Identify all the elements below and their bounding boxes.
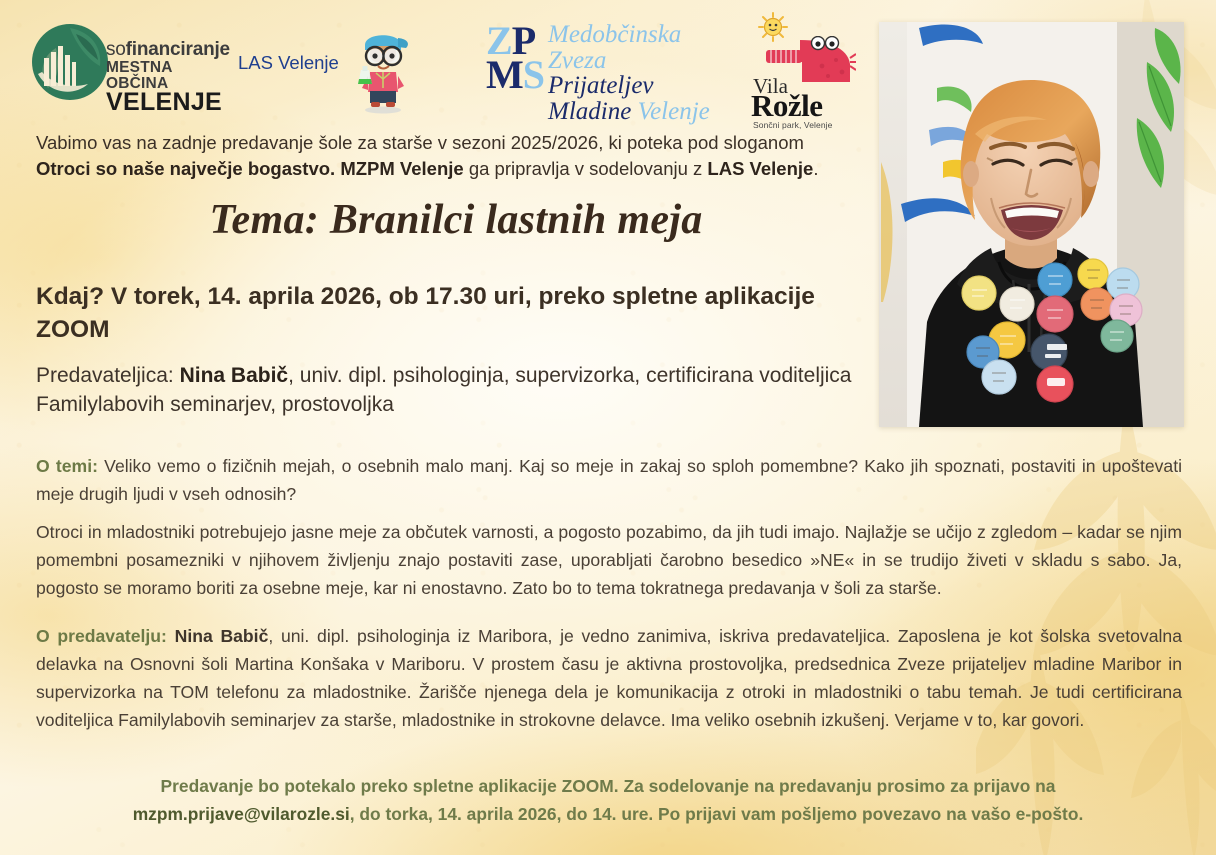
intro-mid: ga pripravlja v sodelovanju z xyxy=(464,158,708,179)
las-velenje-label: LAS Velenje xyxy=(238,52,339,73)
about-label: O predavatelju: xyxy=(36,626,167,646)
zpms-s: S xyxy=(523,52,544,97)
topic-text: Veliko vemo o fizičnih mejah, o osebnih … xyxy=(36,456,1182,504)
zpms-word-velenje: Velenje xyxy=(638,98,710,125)
event-flyer-poster: sofinanciranje MESTNA OBČINA VELENJE LAS… xyxy=(0,0,1216,855)
logo-las-velenje: LAS Velenje xyxy=(238,52,339,74)
mov-velenje: VELENJE xyxy=(106,90,230,115)
speaker-name: Nina Babič xyxy=(180,364,289,387)
zpms-word-mladine: Mladine xyxy=(548,98,631,125)
speaker-photo xyxy=(879,22,1184,427)
intro-slogan: Otroci so naše največje bogastvo. MZPM V… xyxy=(36,158,464,179)
scientist-kid-icon xyxy=(348,22,418,114)
speaker-label: Predavateljica: xyxy=(36,364,180,387)
footer-line-2: , do torka, 14. aprila 2026, do 14. ure.… xyxy=(350,804,1084,824)
about-name: Nina Babič xyxy=(167,626,268,646)
registration-email[interactable]: mzpm.prijave@vilarozle.si xyxy=(133,804,350,824)
intro-paragraph: Vabimo vas na zadnje predavanje šole za … xyxy=(36,130,866,183)
intro-end: . xyxy=(813,158,818,179)
event-datetime: Kdaj? V torek, 14. aprila 2026, ob 17.30… xyxy=(36,281,876,346)
body-paragraph: Otroci in mladostniki potrebujejo jasne … xyxy=(36,518,1182,602)
zpms-word-prijateljev: Prijateljev xyxy=(548,73,742,99)
topic-paragraph: O temi: Veliko vemo o fizičnih mejah, o … xyxy=(36,452,1182,508)
page-title: Tema: Branilci lastnih meja xyxy=(36,196,876,244)
speaker-portrait-image xyxy=(879,22,1184,427)
mov-mestna-obcina: MESTNA OBČINA xyxy=(106,60,230,91)
zpms-word-medobcinska: Medobčinska Zveza xyxy=(548,22,742,73)
mov-financiranje: financiranje xyxy=(126,39,230,60)
zpms-monogram: ZP MS xyxy=(486,24,544,93)
vila-rozle-line2: Rožle xyxy=(751,88,823,124)
mov-so: so xyxy=(106,39,126,60)
intro-line-1: Vabimo vas na zadnje predavanje šole za … xyxy=(36,132,804,153)
registration-footer: Predavanje bo potekalo preko spletne apl… xyxy=(60,772,1156,828)
velenje-emblem-icon xyxy=(30,22,110,102)
logo-mov-text: sofinanciranje MESTNA OBČINA VELENJE xyxy=(106,40,230,115)
zpms-m: M xyxy=(486,52,523,97)
about-speaker-paragraph: O predavatelju: Nina Babič, uni. dipl. p… xyxy=(36,622,1182,735)
speaker-credentials: Predavateljica: Nina Babič, univ. dipl. … xyxy=(36,362,866,420)
footer-line-1: Predavanje bo potekalo preko spletne apl… xyxy=(161,776,1056,796)
zpms-wordmark: Medobčinska Zveza Prijateljev Mladine Ve… xyxy=(548,22,742,124)
logo-mestna-obcina-velenje: sofinanciranje MESTNA OBČINA VELENJE xyxy=(30,18,210,108)
vila-rozle-subtitle: Sončni park, Velenje xyxy=(753,120,833,130)
logo-zpms-velenje: ZP MS Medobčinska Zveza Prijateljev Mlad… xyxy=(486,22,742,108)
intro-las: LAS Velenje xyxy=(707,158,813,179)
topic-label: O temi: xyxy=(36,456,98,476)
logo-vila-rozle: Vila Rožle Sončni park, Velenje xyxy=(748,12,858,116)
